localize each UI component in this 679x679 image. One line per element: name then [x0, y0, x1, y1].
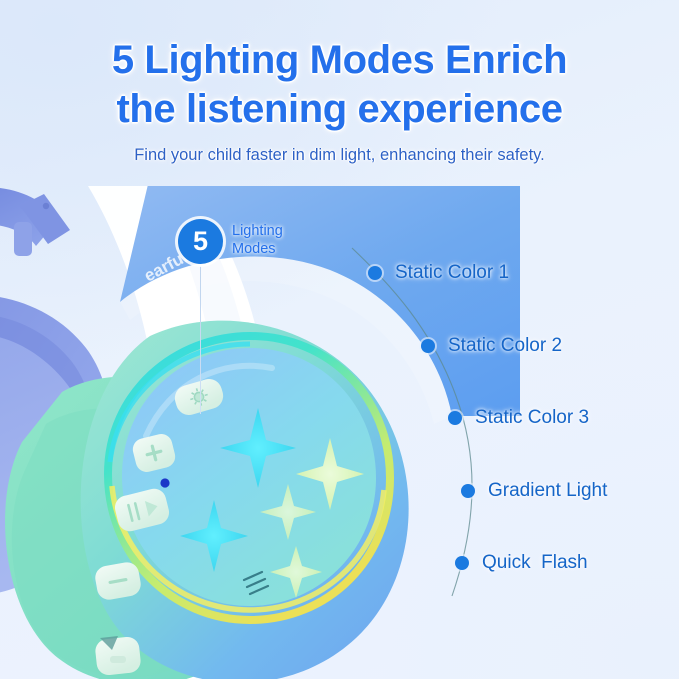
list-item[interactable]: Static Color 2	[421, 335, 562, 357]
list-item[interactable]: Gradient Light	[461, 480, 607, 502]
badge-label-line-1: Lighting	[232, 222, 283, 240]
mode-label: Quick Flash	[482, 552, 588, 574]
bullet-dot-icon	[448, 411, 462, 425]
badge-label-line-2: Modes	[232, 240, 283, 258]
bullet-dot-icon	[368, 266, 382, 280]
marketing-banner: earfun	[0, 0, 679, 679]
lighting-modes-badge: 5 Lighting Modes	[178, 219, 283, 264]
badge-number: 5	[178, 219, 223, 264]
bullet-dot-icon	[455, 556, 469, 570]
mode-label: Gradient Light	[488, 480, 607, 502]
list-item[interactable]: Static Color 3	[448, 407, 589, 429]
mode-label: Static Color 1	[395, 262, 509, 284]
mode-label: Static Color 3	[475, 407, 589, 429]
bullet-dot-icon	[461, 484, 475, 498]
bullet-dot-icon	[421, 339, 435, 353]
mode-label: Static Color 2	[448, 335, 562, 357]
badge-label: Lighting Modes	[232, 219, 283, 258]
lighting-modes-list: Static Color 1 Static Color 2 Static Col…	[0, 0, 679, 679]
list-item[interactable]: Quick Flash	[455, 552, 588, 574]
list-item[interactable]: Static Color 1	[368, 262, 509, 284]
